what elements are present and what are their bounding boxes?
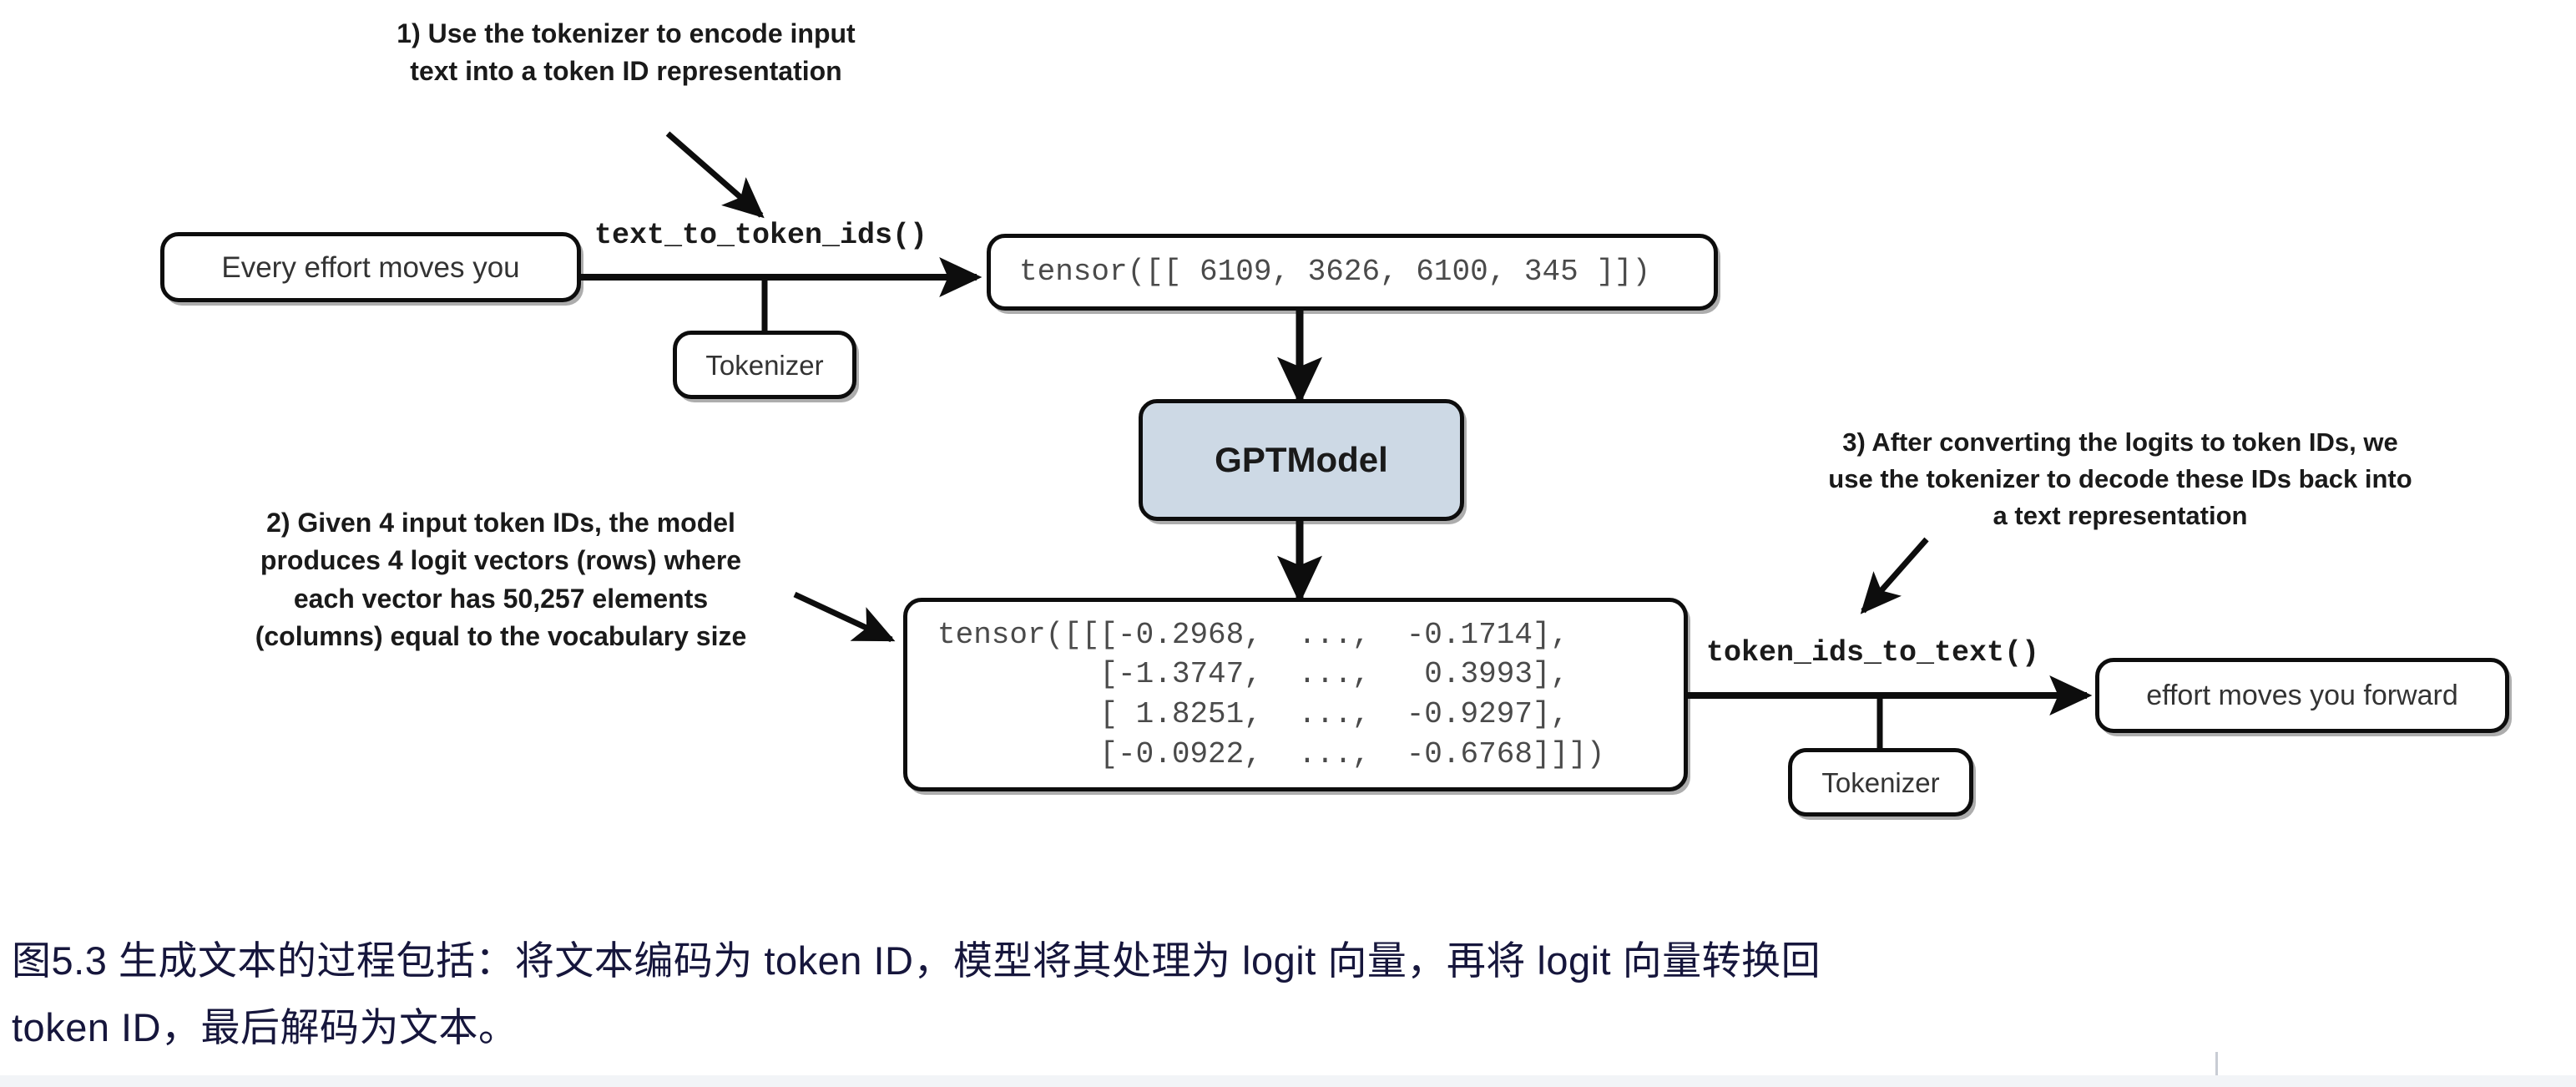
encode-function-label: text_to_token_ids() xyxy=(594,219,927,252)
bottom-bar xyxy=(0,1075,2576,1087)
annotation-step-1: 1) Use the tokenizer to encode input tex… xyxy=(359,15,893,91)
edge-logits-to-output xyxy=(1688,695,2087,750)
logits-tensor-text: tensor([[[-0.2968, ..., -0.1714], [-1.37… xyxy=(937,615,1604,774)
output-text-box[interactable]: effort moves you forward xyxy=(2095,658,2509,733)
tokenizer-decode-box[interactable]: Tokenizer xyxy=(1788,748,1973,817)
annotation-3-arrow xyxy=(1863,539,1927,611)
figure-canvas: 1) Use the tokenizer to encode input tex… xyxy=(0,0,2576,1087)
logits-tensor-box[interactable]: tensor([[[-0.2968, ..., -0.1714], [-1.37… xyxy=(903,598,1688,791)
tokenizer-encode-box[interactable]: Tokenizer xyxy=(673,331,856,399)
input-text-box[interactable]: Every effort moves you xyxy=(160,232,581,302)
annotation-step-3: 3) After converting the logits to token … xyxy=(1761,424,2479,534)
bottom-cursor-tick xyxy=(2215,1052,2218,1075)
gpt-model-box[interactable]: GPTModel xyxy=(1139,399,1464,521)
figure-caption-line-2: token ID，最后解码为文本。 xyxy=(12,999,2566,1056)
annotation-2-arrow xyxy=(795,594,891,640)
figure-caption-line-1: 图5.3 生成文本的过程包括：将文本编码为 token ID，模型将其处理为 l… xyxy=(12,933,2566,989)
annotation-1-arrow xyxy=(668,134,761,215)
token-ids-tensor-box[interactable]: tensor([[ 6109, 3626, 6100, 345 ]]) xyxy=(987,234,1718,311)
token-ids-tensor-text: tensor([[ 6109, 3626, 6100, 345 ]]) xyxy=(1019,257,1650,287)
decode-function-label: token_ids_to_text() xyxy=(1706,636,2039,670)
annotation-step-2: 2) Given 4 input token IDs, the model pr… xyxy=(209,504,793,656)
edge-input-to-tokenids xyxy=(581,277,977,332)
